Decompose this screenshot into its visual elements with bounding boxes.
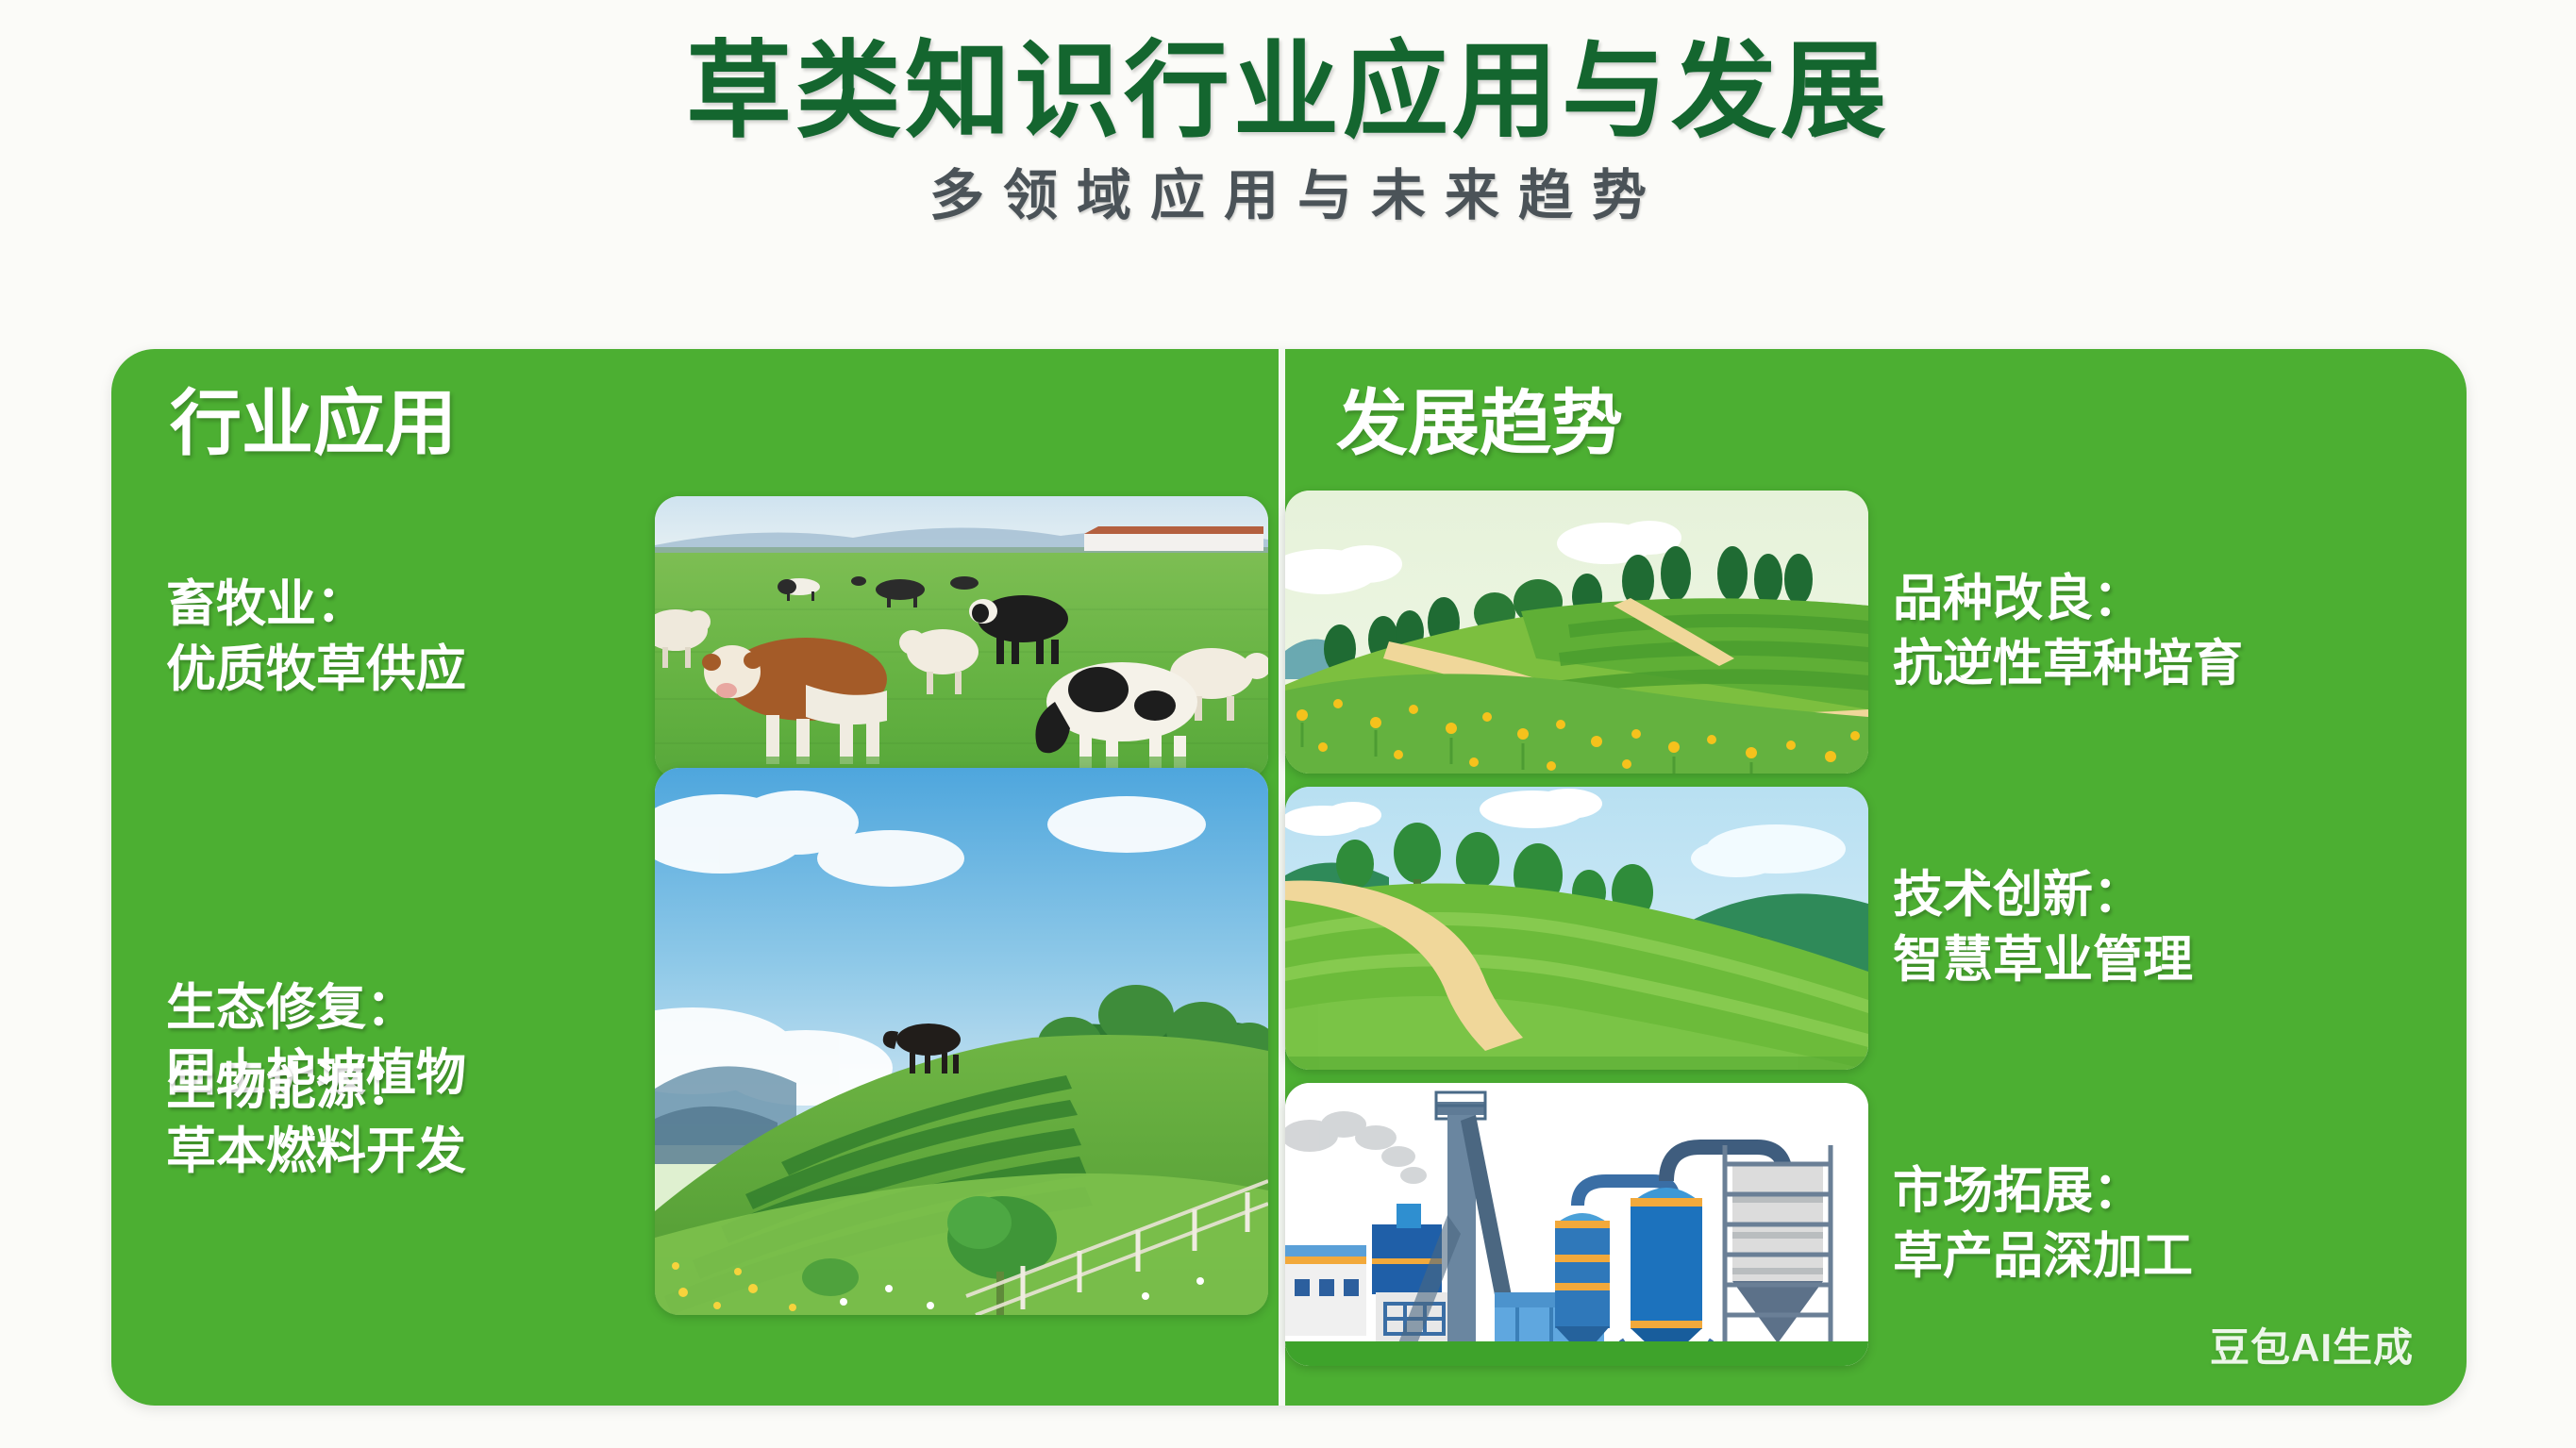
list-item[interactable]: 品种改良： 抗逆性草种培育 — [1285, 491, 2467, 774]
panel-divider — [1279, 349, 1285, 1406]
industrial-processing-plant-illustration — [1285, 1083, 1868, 1366]
item-label: 畜牧业： — [166, 573, 638, 638]
panel-right-title: 发展趋势 — [1336, 385, 2467, 464]
list-item[interactable]: 市场拓展： 草产品深加工 — [1285, 1083, 2467, 1366]
item-value: 抗逆性草种培育 — [1893, 632, 2421, 697]
list-item[interactable]: 技术创新： 智慧草业管理 — [1285, 787, 2467, 1070]
item-value: 草本燃料开发 — [166, 1120, 638, 1185]
item-value: 优质牧草供应 — [166, 638, 638, 703]
panel-left-title: 行业应用 — [170, 385, 1279, 464]
panel-left-rows: 畜牧业： 优质牧草供应 — [111, 491, 1279, 1186]
item-label: 生物能源： — [166, 1056, 638, 1121]
list-item[interactable]: 畜牧业： 优质牧草供应 — [111, 496, 1279, 779]
list-item[interactable]: 生态修复： 固土护坡植物 — [111, 768, 1279, 1315]
item-text-livestock: 畜牧业： 优质牧草供应 — [166, 573, 638, 703]
item-label: 品种改良： — [1893, 567, 2421, 632]
item-label: 技术创新： — [1893, 863, 2421, 928]
panel-right-rows: 品种改良： 抗逆性草种培育 — [1285, 491, 2467, 1366]
item-label: 生态修复： — [166, 976, 638, 1041]
page-title: 草类知识行业应用与发展 — [0, 32, 2576, 150]
green-hills-trees-path-illustration — [1285, 787, 1868, 1070]
item-text-tech-innovation: 技术创新： 智慧草业管理 — [1893, 863, 2421, 993]
rolling-fields-flowers-illustration — [1285, 491, 1868, 774]
pasture-cattle-sheep-photo — [655, 496, 1268, 779]
item-text-bioenergy: 生物能源： 草本燃料开发 — [166, 1056, 638, 1186]
page-header: 草类知识行业应用与发展 多领域应用与未来趋势 — [0, 0, 2576, 229]
terraced-green-hillside-photo — [655, 768, 1268, 1315]
panel-industry-applications: 行业应用 畜牧业： 优质牧草供应 — [111, 349, 1279, 1406]
item-value: 智慧草业管理 — [1893, 928, 2421, 993]
item-text-market-expansion: 市场拓展： 草产品深加工 — [1893, 1159, 2421, 1290]
page-subtitle: 多领域应用与未来趋势 — [0, 163, 2576, 229]
item-label: 市场拓展： — [1893, 1159, 2421, 1224]
content-board: 行业应用 畜牧业： 优质牧草供应 — [111, 349, 2467, 1406]
item-text-variety-improvement: 品种改良： 抗逆性草种培育 — [1893, 567, 2421, 697]
item-value: 草产品深加工 — [1893, 1224, 2421, 1290]
panel-development-trends: 发展趋势 — [1285, 349, 2467, 1406]
